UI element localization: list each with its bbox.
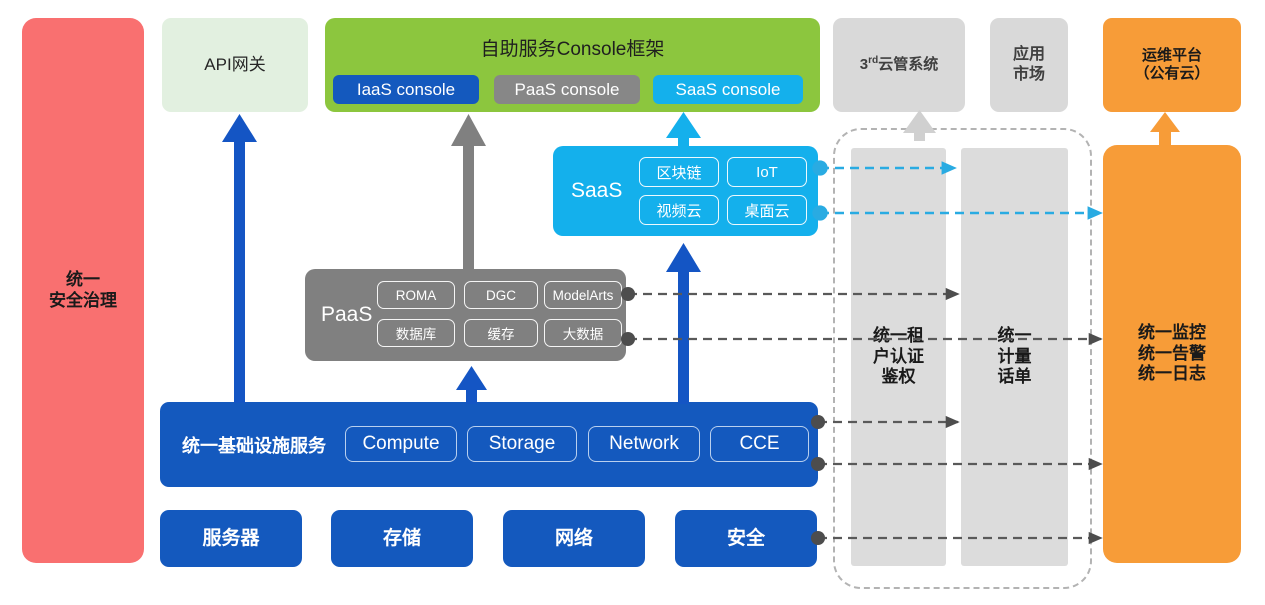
api-gateway-box[interactable]: API网关 bbox=[162, 18, 308, 112]
api-gateway-label: API网关 bbox=[204, 55, 265, 76]
paas-chip-bigdata-label: 大数据 bbox=[563, 323, 604, 343]
saas-layer-box[interactable]: SaaS 区块链 IoT 视频云 桌面云 bbox=[553, 146, 818, 236]
metering-line3: 话单 bbox=[998, 367, 1032, 388]
metering-line1: 统一 bbox=[998, 326, 1032, 347]
paas-layer-box[interactable]: PaaS ROMA DGC ModelArts 数据库 缓存 大数据 bbox=[305, 269, 626, 361]
console-framework-box[interactable]: 自助服务Console框架 IaaS console PaaS console … bbox=[325, 18, 820, 112]
paas-chip-bigdata[interactable]: 大数据 bbox=[544, 319, 622, 347]
arrow-infra-to-api-gateway bbox=[222, 114, 257, 403]
ops-monitoring-pillar[interactable]: 统一监控 统一告警 统一日志 bbox=[1103, 145, 1241, 563]
saas-chip-desktop-cloud[interactable]: 桌面云 bbox=[727, 195, 807, 225]
app-market-line1: 应用 bbox=[1013, 45, 1045, 65]
ops-pillar-line1: 统一监控 bbox=[1138, 323, 1206, 344]
paas-chip-database-label: 数据库 bbox=[396, 323, 437, 343]
third-party-cloud-mgmt-box[interactable]: 3rd云管系统 bbox=[833, 18, 965, 112]
hardware-tile-network[interactable]: 网络 bbox=[503, 510, 645, 567]
ops-platform-line2: （公有云） bbox=[1134, 65, 1209, 83]
paas-chip-modelarts[interactable]: ModelArts bbox=[544, 281, 622, 309]
hardware-tile-server[interactable]: 服务器 bbox=[160, 510, 302, 567]
ops-pillar-line3: 统一日志 bbox=[1138, 364, 1206, 385]
arrow-infra-to-paas bbox=[456, 366, 487, 404]
infra-chip-network[interactable]: Network bbox=[588, 426, 700, 462]
hardware-tile-network-label: 网络 bbox=[555, 527, 593, 550]
saas-chip-video-cloud[interactable]: 视频云 bbox=[639, 195, 719, 225]
arrow-into-ops-platform bbox=[1150, 112, 1180, 146]
infra-chip-cce-label: CCE bbox=[739, 433, 779, 455]
paas-chip-cache-label: 缓存 bbox=[488, 323, 515, 343]
saas-chip-iot-label: IoT bbox=[756, 164, 778, 181]
unified-metering-billing-column[interactable]: 统一 计量 话单 bbox=[961, 148, 1068, 566]
paas-chip-database[interactable]: 数据库 bbox=[377, 319, 455, 347]
hardware-tile-storage[interactable]: 存储 bbox=[331, 510, 473, 567]
infra-chip-cce[interactable]: CCE bbox=[710, 426, 809, 462]
app-market-box[interactable]: 应用 市场 bbox=[990, 18, 1068, 112]
infra-chip-network-label: Network bbox=[609, 433, 679, 455]
iaas-console-chip[interactable]: IaaS console bbox=[333, 75, 479, 104]
hardware-tile-security[interactable]: 安全 bbox=[675, 510, 817, 567]
paas-console-chip[interactable]: PaaS console bbox=[494, 75, 640, 104]
saas-chip-desktop-cloud-label: 桌面云 bbox=[744, 200, 789, 221]
third-party-superscript: rd bbox=[868, 55, 878, 66]
arrow-infra-to-saas bbox=[666, 243, 701, 404]
tenant-auth-line1: 统一租 bbox=[873, 326, 924, 347]
infra-chip-storage[interactable]: Storage bbox=[467, 426, 577, 462]
console-framework-title: 自助服务Console框架 bbox=[325, 34, 820, 61]
third-party-prefix: 3 bbox=[860, 56, 868, 73]
tenant-auth-line3: 鉴权 bbox=[873, 367, 924, 388]
paas-layer-label: PaaS bbox=[321, 303, 372, 327]
unified-tenant-auth-column[interactable]: 统一租 户认证 鉴权 bbox=[851, 148, 946, 566]
saas-chip-blockchain[interactable]: 区块链 bbox=[639, 157, 719, 187]
hardware-tile-storage-label: 存储 bbox=[383, 527, 421, 550]
third-party-cloud-mgmt-label: 3rd云管系统 bbox=[860, 55, 939, 74]
infra-chip-compute[interactable]: Compute bbox=[345, 426, 457, 462]
app-market-line2: 市场 bbox=[1013, 65, 1045, 85]
saas-layer-label: SaaS bbox=[571, 179, 622, 203]
ops-pillar-line2: 统一告警 bbox=[1138, 344, 1206, 365]
paas-chip-dgc-label: DGC bbox=[486, 288, 516, 303]
third-party-suffix: 云管系统 bbox=[878, 56, 938, 73]
arrow-paas-to-console bbox=[451, 114, 486, 272]
paas-chip-cache[interactable]: 缓存 bbox=[464, 319, 538, 347]
infra-chip-storage-label: Storage bbox=[489, 433, 556, 455]
unified-infrastructure-label: 统一基础设施服务 bbox=[182, 432, 326, 458]
saas-console-chip[interactable]: SaaS console bbox=[653, 75, 803, 104]
paas-chip-modelarts-label: ModelArts bbox=[553, 288, 614, 303]
paas-console-label: PaaS console bbox=[515, 80, 620, 100]
hardware-tile-security-label: 安全 bbox=[727, 527, 765, 550]
paas-chip-roma-label: ROMA bbox=[396, 288, 437, 303]
infra-chip-compute-label: Compute bbox=[362, 433, 439, 455]
paas-chip-roma[interactable]: ROMA bbox=[377, 281, 455, 309]
ops-platform-box[interactable]: 运维平台 （公有云） bbox=[1103, 18, 1241, 112]
tenant-auth-line2: 户认证 bbox=[873, 347, 924, 368]
security-pillar-line2: 安全治理 bbox=[49, 291, 117, 312]
iaas-console-label: IaaS console bbox=[357, 80, 455, 100]
ops-platform-line1: 运维平台 bbox=[1134, 47, 1209, 65]
metering-line2: 计量 bbox=[998, 347, 1032, 368]
saas-chip-blockchain-label: 区块链 bbox=[656, 162, 701, 183]
saas-chip-iot[interactable]: IoT bbox=[727, 157, 807, 187]
security-pillar-line1: 统一 bbox=[49, 270, 117, 291]
architecture-diagram: 统一 安全治理 API网关 自助服务Console框架 IaaS console… bbox=[0, 0, 1265, 605]
security-governance-pillar[interactable]: 统一 安全治理 bbox=[22, 18, 144, 563]
saas-console-label: SaaS console bbox=[676, 80, 781, 100]
unified-infrastructure-bar[interactable]: 统一基础设施服务 Compute Storage Network CCE bbox=[160, 402, 818, 487]
hardware-tile-server-label: 服务器 bbox=[202, 527, 259, 550]
saas-chip-video-cloud-label: 视频云 bbox=[656, 200, 701, 221]
paas-chip-dgc[interactable]: DGC bbox=[464, 281, 538, 309]
